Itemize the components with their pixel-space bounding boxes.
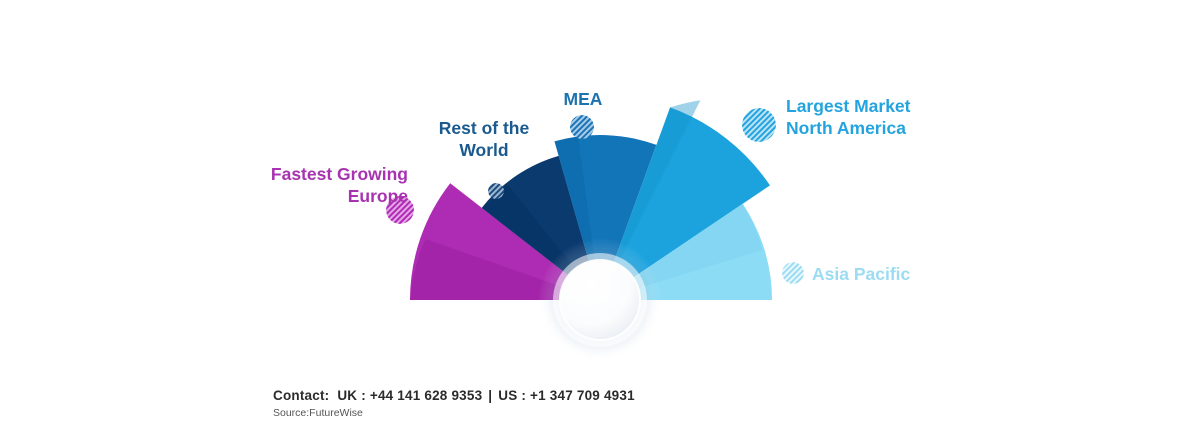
us-label: US : (498, 388, 526, 403)
uk-label: UK : (337, 388, 366, 403)
segment-label-europe: Fastest Growing Europe (258, 163, 408, 208)
segment-label-north-america: Largest Market North America (786, 95, 922, 140)
radial-chart-svg (0, 0, 1200, 380)
source-line: Source:FutureWise (273, 407, 363, 419)
segment-label-asia-pacific-line1: Asia Pacific (812, 263, 910, 285)
radial-market-share-chart: Fastest Growing Europe Rest of the World… (0, 0, 1200, 380)
segment-label-mea-line1: MEA (540, 88, 626, 110)
segment-label-europe-line1: Fastest Growing (258, 163, 408, 185)
segment-label-europe-line2: Europe (258, 185, 408, 207)
contact-label: Contact: (273, 388, 329, 403)
segment-label-mea: MEA (540, 88, 626, 110)
striped-circle-marker-north-america (742, 108, 776, 142)
segment-label-rest-of-world-line2: World (412, 139, 556, 161)
striped-circle-marker-asia-pacific (782, 262, 804, 284)
segment-label-north-america-line2: North America (786, 117, 922, 139)
segment-label-north-america-line1: Largest Market (786, 95, 922, 117)
segment-label-rest-of-world-line1: Rest of the (412, 117, 556, 139)
infographic-page: Fastest Growing Europe Rest of the World… (0, 0, 1200, 428)
footer: Contact:UK : +44 141 628 9353|US : +1 34… (0, 380, 1200, 428)
segment-label-rest-of-world: Rest of the World (412, 117, 556, 162)
striped-circle-marker-mea (570, 115, 594, 139)
contact-line: Contact:UK : +44 141 628 9353|US : +1 34… (273, 388, 635, 403)
us-phone[interactable]: +1 347 709 4931 (530, 388, 635, 403)
uk-phone[interactable]: +44 141 628 9353 (370, 388, 482, 403)
contact-separator: | (488, 388, 492, 403)
striped-circle-marker-rest-of-world (488, 183, 504, 199)
segment-label-asia-pacific: Asia Pacific (812, 263, 910, 285)
